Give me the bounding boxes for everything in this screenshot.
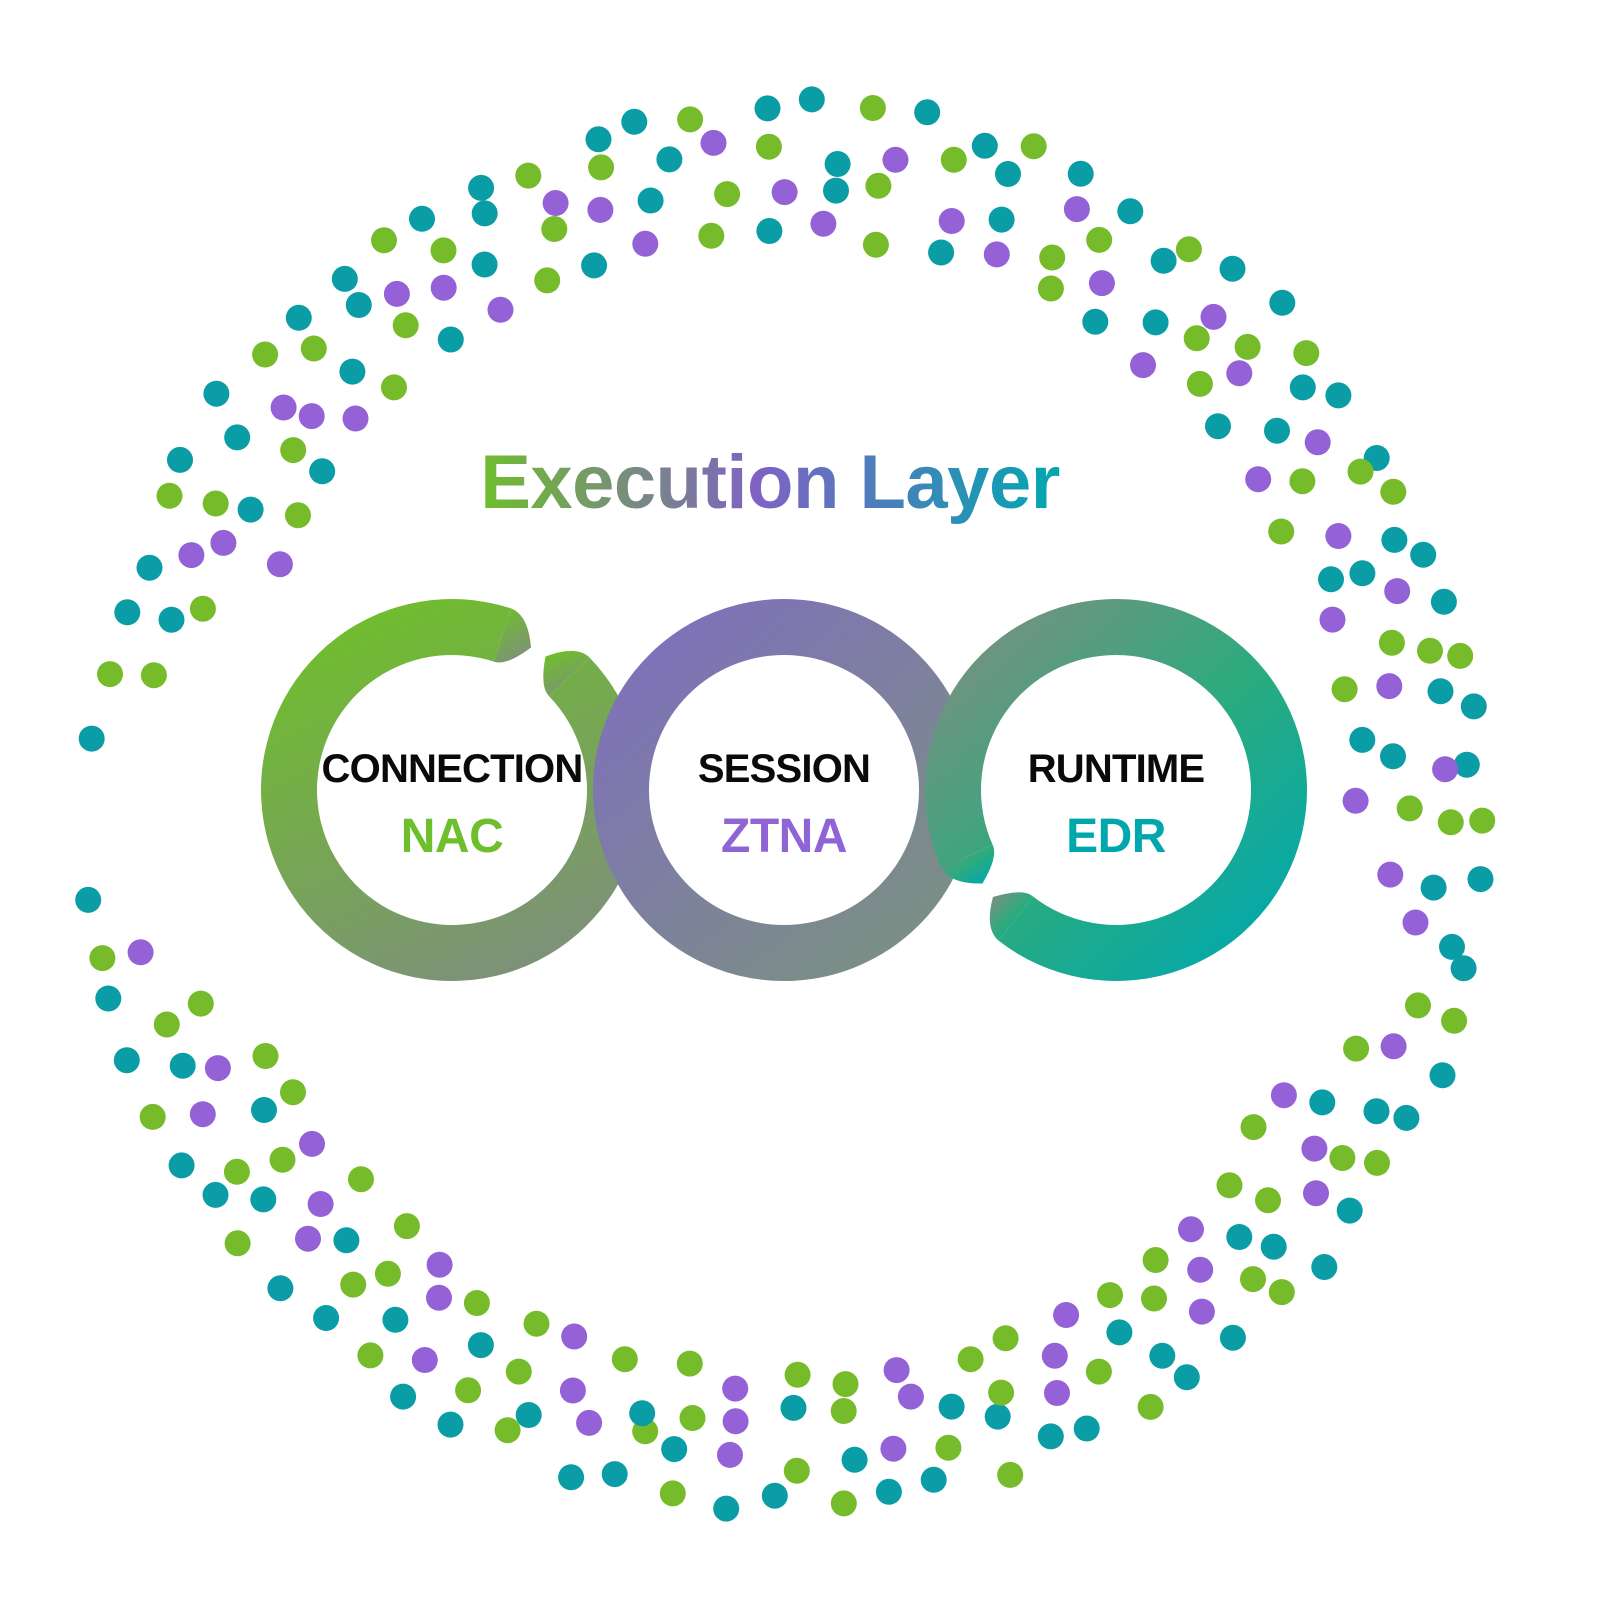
ring-label-group: CONNECTIONNACSESSIONZTNARUNTIMEEDR <box>322 747 1205 863</box>
halo-dot <box>810 211 836 237</box>
halo-dot <box>1337 1198 1363 1224</box>
halo-dot <box>238 497 264 523</box>
halo-dot <box>939 208 965 234</box>
halo-dot <box>252 342 278 368</box>
halo-dot <box>1380 479 1406 505</box>
halo-dot <box>1044 1380 1070 1406</box>
halo-dot <box>785 1362 811 1388</box>
halo-dot <box>159 607 185 633</box>
halo-dot <box>1397 795 1423 821</box>
halo-dot <box>1438 809 1464 835</box>
halo-dot <box>1097 1282 1123 1308</box>
halo-dot <box>426 1285 452 1311</box>
halo-dot <box>1410 542 1436 568</box>
halo-dot <box>1431 589 1457 615</box>
halo-dot <box>1226 1224 1252 1250</box>
halo-dot <box>1021 133 1047 159</box>
infographic-canvas: Execution Layer CONNECTIONNACSESSIONZTNA… <box>0 0 1600 1600</box>
halo-dot <box>270 1147 296 1173</box>
halo-dot <box>680 1405 706 1431</box>
halo-dot <box>495 1417 521 1443</box>
halo-dot <box>958 1346 984 1372</box>
halo-dot <box>1245 466 1271 492</box>
halo-dot <box>393 312 419 338</box>
halo-dot <box>1309 1089 1335 1115</box>
halo-dot <box>1289 468 1315 494</box>
halo-dot <box>1329 1145 1355 1171</box>
halo-dot <box>1174 1364 1200 1390</box>
halo-dot <box>1053 1302 1079 1328</box>
halo-dot <box>357 1342 383 1368</box>
halo-dot <box>1178 1216 1204 1242</box>
halo-dot <box>842 1447 868 1473</box>
halo-dot <box>1176 236 1202 262</box>
halo-dot <box>989 207 1015 233</box>
halo-dot <box>114 1047 140 1073</box>
halo-dot <box>524 1311 550 1337</box>
halo-dot <box>1381 1033 1407 1059</box>
halo-dot <box>137 555 163 581</box>
halo-dot <box>1403 910 1429 936</box>
halo-dot <box>251 1097 277 1123</box>
halo-dot <box>427 1252 453 1278</box>
halo-dot <box>621 109 647 135</box>
halo-dot <box>1364 1098 1390 1124</box>
halo-dot <box>1217 1172 1243 1198</box>
halo-dot <box>1130 352 1156 378</box>
halo-dot <box>384 281 410 307</box>
halo-dot <box>371 227 397 253</box>
halo-dot <box>224 1159 250 1185</box>
halo-dot <box>831 1490 857 1516</box>
halo-dot <box>128 939 154 965</box>
halo-dot <box>1235 334 1261 360</box>
halo-dot <box>612 1346 638 1372</box>
halo-dot <box>939 1394 965 1420</box>
halo-dot <box>993 1325 1019 1351</box>
halo-dot <box>722 1376 748 1402</box>
halo-dot <box>224 424 250 450</box>
halo-dot <box>464 1290 490 1316</box>
halo-dot <box>558 1464 584 1490</box>
halo-dot <box>984 241 1010 267</box>
halo-dot <box>921 1467 947 1493</box>
halo-dot <box>1184 325 1210 351</box>
halo-dot <box>1264 418 1290 444</box>
halo-dot <box>280 437 306 463</box>
execution-layer-diagram: Execution Layer CONNECTIONNACSESSIONZTNA… <box>0 0 1600 1600</box>
halo-dot <box>995 161 1021 187</box>
halo-dot <box>677 106 703 132</box>
halo-dot <box>1405 992 1431 1018</box>
halo-dot <box>863 232 889 258</box>
halo-dot <box>95 986 121 1012</box>
halo-dot <box>997 1462 1023 1488</box>
halo-dot <box>1240 1266 1266 1292</box>
halo-dot <box>833 1371 859 1397</box>
halo-dot <box>1421 875 1447 901</box>
halo-dot <box>1226 360 1252 386</box>
halo-dot <box>313 1305 339 1331</box>
halo-dot <box>799 86 825 112</box>
halo-dot <box>1269 1279 1295 1305</box>
connection-ring-stage-label: CONNECTION <box>322 747 583 791</box>
connection-ring-tech-label: NAC <box>401 810 504 863</box>
halo-dot <box>1451 955 1477 981</box>
halo-dot <box>588 154 614 180</box>
halo-dot <box>1432 756 1458 782</box>
halo-dot <box>506 1359 532 1385</box>
page-title: Execution Layer <box>480 440 1060 525</box>
halo-dot <box>576 1410 602 1436</box>
halo-dot <box>225 1230 251 1256</box>
halo-dot <box>178 542 204 568</box>
halo-dot <box>1349 727 1375 753</box>
halo-dot <box>1293 340 1319 366</box>
halo-dot <box>468 1332 494 1358</box>
halo-dot <box>1447 643 1473 669</box>
halo-dot <box>534 267 560 293</box>
halo-dot <box>267 1275 293 1301</box>
halo-dot <box>190 596 216 622</box>
halo-dot <box>1255 1187 1281 1213</box>
halo-dot <box>587 197 613 223</box>
halo-dot <box>561 1324 587 1350</box>
halo-dot <box>472 252 498 278</box>
halo-dot <box>1380 743 1406 769</box>
halo-dot <box>203 381 229 407</box>
halo-dot <box>1428 678 1454 704</box>
halo-dot <box>332 266 358 292</box>
halo-dot <box>1343 1036 1369 1062</box>
halo-dot <box>75 887 101 913</box>
halo-dot <box>1086 1359 1112 1385</box>
halo-dot <box>1384 578 1410 604</box>
halo-dot <box>935 1435 961 1461</box>
halo-dot <box>1149 1343 1175 1369</box>
halo-dot <box>543 190 569 216</box>
halo-dot <box>717 1442 743 1468</box>
halo-dot <box>267 551 293 577</box>
halo-dot <box>140 1104 166 1130</box>
halo-dot <box>1349 560 1375 586</box>
halo-dot <box>343 406 369 432</box>
halo-dot <box>1430 1062 1456 1088</box>
halo-dot <box>586 126 612 152</box>
halo-dot <box>1325 382 1351 408</box>
halo-dot <box>701 130 727 156</box>
halo-dot <box>89 945 115 971</box>
halo-dot <box>1468 866 1494 892</box>
halo-dot <box>515 163 541 189</box>
halo-dot <box>157 483 183 509</box>
halo-dot <box>865 173 891 199</box>
halo-dot <box>1205 413 1231 439</box>
halo-dot <box>972 133 998 159</box>
halo-dot <box>250 1186 276 1212</box>
halo-dot <box>382 1307 408 1333</box>
halo-dot <box>468 175 494 201</box>
halo-dot <box>714 181 740 207</box>
halo-dot <box>1268 519 1294 545</box>
halo-dot <box>985 1404 1011 1430</box>
halo-dot <box>1364 1150 1390 1176</box>
halo-dot <box>638 188 664 214</box>
halo-dot <box>1187 1257 1213 1283</box>
halo-dot <box>190 1101 216 1127</box>
halo-dot <box>167 447 193 473</box>
halo-dot <box>988 1380 1014 1406</box>
halo-dot <box>898 1384 924 1410</box>
halo-dot <box>1106 1319 1132 1345</box>
halo-dot <box>860 95 886 121</box>
halo-dot <box>1220 1325 1246 1351</box>
halo-dot <box>412 1347 438 1373</box>
halo-dot <box>1332 676 1358 702</box>
halo-dot <box>346 292 372 318</box>
halo-dot <box>79 726 105 752</box>
halo-dot <box>1042 1343 1068 1369</box>
halo-dot <box>941 147 967 173</box>
halo-dot <box>831 1398 857 1424</box>
halo-dot <box>661 1436 687 1462</box>
halo-dot <box>1290 374 1316 400</box>
halo-dot <box>1320 607 1346 633</box>
halo-dot <box>309 458 335 484</box>
runtime-ring-tech-label: EDR <box>1066 810 1166 863</box>
halo-dot <box>286 305 312 331</box>
halo-dot <box>772 179 798 205</box>
halo-dot <box>253 1043 279 1069</box>
halo-dot <box>1271 1082 1297 1108</box>
halo-dot <box>1379 630 1405 656</box>
halo-dot <box>823 178 849 204</box>
halo-dot <box>629 1400 655 1426</box>
halo-dot <box>723 1408 749 1434</box>
halo-dot <box>455 1377 481 1403</box>
halo-dot <box>1068 161 1094 187</box>
halo-dot <box>340 1272 366 1298</box>
halo-dot <box>438 327 464 353</box>
halo-dot <box>154 1012 180 1038</box>
halo-dot <box>299 1131 325 1157</box>
halo-dot <box>1454 752 1480 778</box>
halo-dot <box>1082 309 1108 335</box>
halo-dot <box>541 216 567 242</box>
halo-dot <box>1393 1105 1419 1131</box>
halo-dot <box>1038 1423 1064 1449</box>
halo-dot <box>914 99 940 125</box>
halo-dot <box>516 1402 542 1428</box>
halo-dot <box>1261 1234 1287 1260</box>
halo-dot <box>188 991 214 1017</box>
halo-dot <box>884 1357 910 1383</box>
halo-dot <box>1305 429 1331 455</box>
halo-dot <box>205 1055 231 1081</box>
halo-dot <box>883 147 909 173</box>
session-ring-stage-label: SESSION <box>698 747 870 791</box>
halo-dot <box>348 1166 374 1192</box>
halo-dot <box>581 252 607 278</box>
halo-dot <box>280 1079 306 1105</box>
halo-dot <box>431 237 457 263</box>
halo-dot <box>339 359 365 385</box>
halo-dot <box>295 1226 321 1252</box>
halo-dot <box>1303 1180 1329 1206</box>
halo-dot <box>1325 523 1351 549</box>
halo-dot <box>1417 638 1443 664</box>
halo-dot <box>381 374 407 400</box>
halo-dot <box>472 200 498 226</box>
halo-dot <box>285 502 311 528</box>
halo-dot <box>203 491 229 517</box>
halo-dot <box>1381 527 1407 553</box>
halo-dot <box>876 1479 902 1505</box>
halo-dot <box>1348 459 1374 485</box>
halo-dot <box>928 240 954 266</box>
halo-dot <box>1376 673 1402 699</box>
halo-dot <box>1469 808 1495 834</box>
halo-dot <box>1441 1008 1467 1034</box>
halo-dot <box>1301 1136 1327 1162</box>
halo-dot <box>1220 256 1246 282</box>
halo-dot <box>390 1384 416 1410</box>
halo-dot <box>203 1182 229 1208</box>
halo-dot <box>299 403 325 429</box>
halo-dot <box>1189 1299 1215 1325</box>
runtime-ring-stage-label: RUNTIME <box>1028 747 1205 791</box>
halo-dot <box>1138 1394 1164 1420</box>
halo-dot <box>1086 227 1112 253</box>
halo-dot <box>660 1480 686 1506</box>
halo-dot <box>713 1496 739 1522</box>
halo-dot <box>677 1351 703 1377</box>
halo-dot <box>375 1261 401 1287</box>
halo-dot <box>1141 1286 1167 1312</box>
halo-dot <box>141 662 167 688</box>
halo-dot <box>431 275 457 301</box>
halo-dot <box>880 1436 906 1462</box>
halo-dot <box>1241 1114 1267 1140</box>
halo-dot <box>781 1395 807 1421</box>
halo-dot <box>1201 304 1227 330</box>
halo-dot <box>762 1483 788 1509</box>
halo-dot <box>114 599 140 625</box>
halo-dot <box>1064 196 1090 222</box>
halo-dot <box>632 231 658 257</box>
halo-dot <box>409 206 435 232</box>
halo-dot <box>602 1461 628 1487</box>
halo-dot <box>1377 862 1403 888</box>
halo-dot <box>1117 198 1143 224</box>
halo-dot <box>394 1213 420 1239</box>
halo-dot <box>1343 788 1369 814</box>
halo-dot <box>1151 248 1177 274</box>
halo-dot <box>784 1458 810 1484</box>
halo-dot <box>438 1412 464 1438</box>
halo-dot <box>656 146 682 172</box>
halo-dot <box>169 1152 195 1178</box>
halo-dot <box>698 223 724 249</box>
halo-dot <box>1089 270 1115 296</box>
halo-dot <box>756 134 782 160</box>
halo-dot <box>1039 245 1065 271</box>
halo-dot <box>308 1191 334 1217</box>
halo-dot <box>1143 1247 1169 1273</box>
halo-dot <box>488 297 514 323</box>
halo-dot <box>1461 693 1487 719</box>
halo-dot <box>333 1227 359 1253</box>
halo-dot <box>825 151 851 177</box>
halo-dot <box>210 530 236 556</box>
halo-dot <box>1318 566 1344 592</box>
halo-dot <box>1311 1254 1337 1280</box>
halo-dot <box>170 1053 196 1079</box>
halo-dot <box>1038 276 1064 302</box>
halo-dot <box>755 95 781 121</box>
halo-dot <box>1074 1416 1100 1442</box>
halo-dot <box>97 661 123 687</box>
halo-dot <box>560 1378 586 1404</box>
halo-dot <box>756 218 782 244</box>
halo-dot <box>1269 290 1295 316</box>
halo-dot <box>271 395 297 421</box>
halo-dot <box>1143 309 1169 335</box>
session-ring-tech-label: ZTNA <box>721 810 847 863</box>
halo-dot <box>1187 371 1213 397</box>
halo-dot <box>301 336 327 362</box>
